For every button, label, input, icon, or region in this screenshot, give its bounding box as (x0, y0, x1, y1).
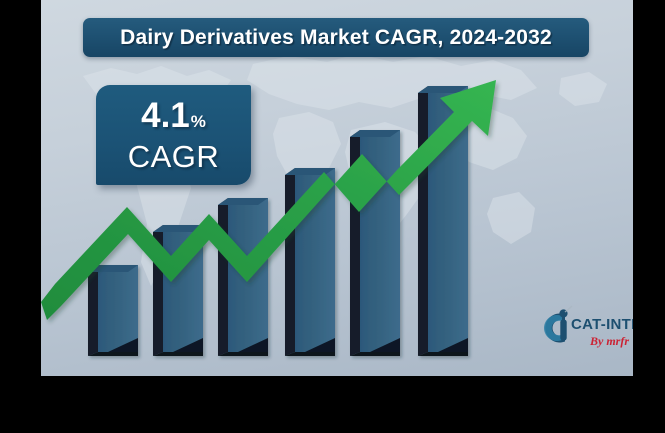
cagr-percent-sign: % (191, 113, 206, 130)
chart-title-bar: Dairy Derivatives Market CAGR, 2024-2032 (83, 18, 589, 57)
cagr-label: CAGR (128, 141, 220, 172)
cagr-callout-box: 4.1 % CAGR (96, 85, 251, 185)
brand-logo[interactable]: CAT-INTEL By mrfr (538, 303, 633, 361)
bar-1 (88, 265, 138, 356)
infographic-canvas: Dairy Derivatives Market CAGR, 2024-2032… (41, 0, 633, 376)
brand-wordmark: CAT-INTEL (571, 316, 633, 333)
brand-byline: By mrfr (590, 334, 629, 349)
page-title: Dairy Derivatives Market CAGR, 2024-2032 (120, 26, 552, 50)
cagr-value: 4.1 (141, 98, 190, 133)
cagr-value-row: 4.1 % (141, 98, 206, 133)
outer-black-frame: Dairy Derivatives Market CAGR, 2024-2032… (0, 0, 665, 433)
